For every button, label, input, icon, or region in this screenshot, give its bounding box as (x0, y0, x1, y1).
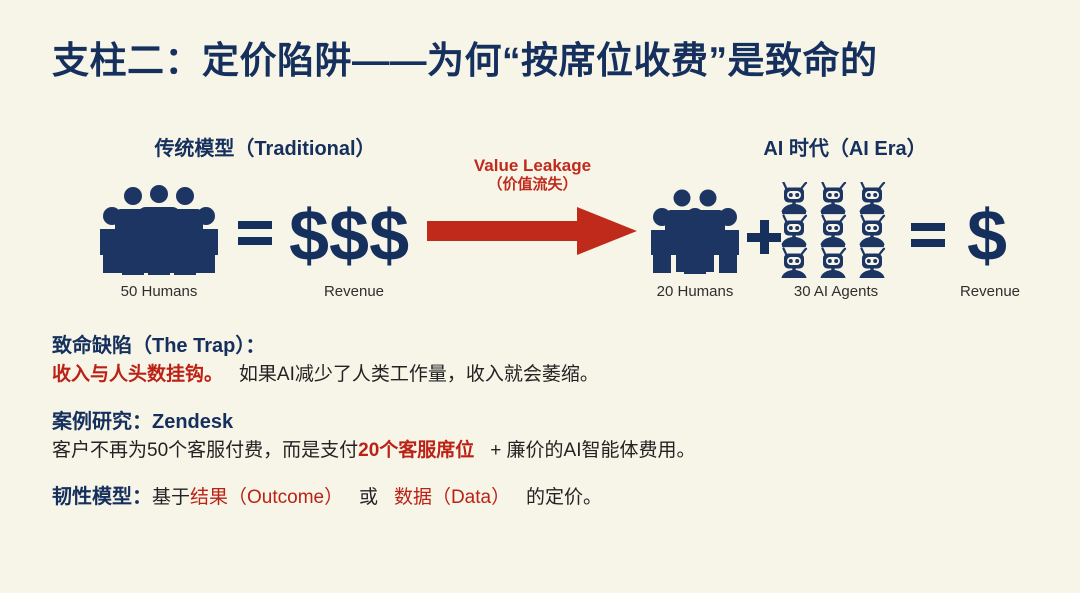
resilient-text-after: 的定价。 (526, 487, 602, 508)
caption-30-ai-agents: 30 AI Agents (766, 283, 906, 300)
paragraph-case-study: 案例研究：Zendesk 客户不再为50个客服付费，而是支付20个客服席位 + … (52, 408, 1052, 465)
crowd-icon-20-humans (651, 186, 739, 274)
plus-sign-ai-era (747, 220, 781, 254)
page-title: 支柱二：定价陷阱——为何“按席位收费”是致命的 (52, 30, 878, 84)
traditional-model-heading: 传统模型（Traditional） (120, 132, 410, 161)
case-study-text-before: 客户不再为50个客服付费，而是支付 (52, 440, 358, 461)
case-study-label: 案例研究：Zendesk (52, 411, 233, 433)
caption-50-humans: 50 Humans (80, 283, 238, 300)
value-leakage-label-en: Value Leakage (425, 155, 640, 176)
money-symbol-triple: $$$ (289, 200, 409, 272)
robot-grid-icon-30-agents (779, 182, 893, 278)
trap-highlight: 收入与人头数挂钩。 (52, 364, 223, 385)
trap-rest: 如果AI减少了人类工作量，收入就会萎缩。 (239, 364, 599, 385)
caption-20-humans: 20 Humans (625, 283, 765, 300)
money-symbol-single: $ (967, 200, 1007, 272)
caption-revenue-traditional: Revenue (279, 283, 429, 300)
right-arrow-icon (427, 205, 639, 257)
resilient-highlight-data: 数据（Data） (394, 487, 510, 508)
pricing-comparison-diagram: 传统模型（Traditional） AI 时代（AI Era） (0, 120, 1080, 320)
trap-label: 致命缺陷（The Trap）： (52, 335, 265, 357)
case-study-highlight: 20个客服席位 (358, 440, 474, 461)
paragraph-the-trap: 致命缺陷（The Trap）： 收入与人头数挂钩。 如果AI减少了人类工作量，收… (52, 332, 1052, 389)
value-leakage-block: Value Leakage （价值流失） (425, 155, 640, 262)
crowd-icon-50-humans (100, 183, 218, 275)
equals-sign-ai-era (911, 220, 945, 250)
paragraph-resilient-model: 韧性模型：基于结果（Outcome） 或 数据（Data） 的定价。 (52, 483, 1052, 512)
ai-era-heading: AI 时代（AI Era） (700, 132, 990, 161)
body-text-block: 致命缺陷（The Trap）： 收入与人头数挂钩。 如果AI减少了人类工作量，收… (52, 332, 1052, 531)
case-study-text-after: + 廉价的AI智能体费用。 (490, 440, 695, 461)
resilient-label: 韧性模型： (52, 486, 152, 508)
resilient-highlight-outcome: 结果（Outcome） (190, 487, 343, 508)
value-leakage-label-cn: （价值流失） (425, 176, 640, 195)
caption-revenue-ai-era: Revenue (925, 283, 1055, 300)
resilient-text-middle: 或 (359, 487, 378, 508)
equals-sign-traditional (238, 218, 272, 248)
resilient-text-before: 基于 (152, 487, 190, 508)
